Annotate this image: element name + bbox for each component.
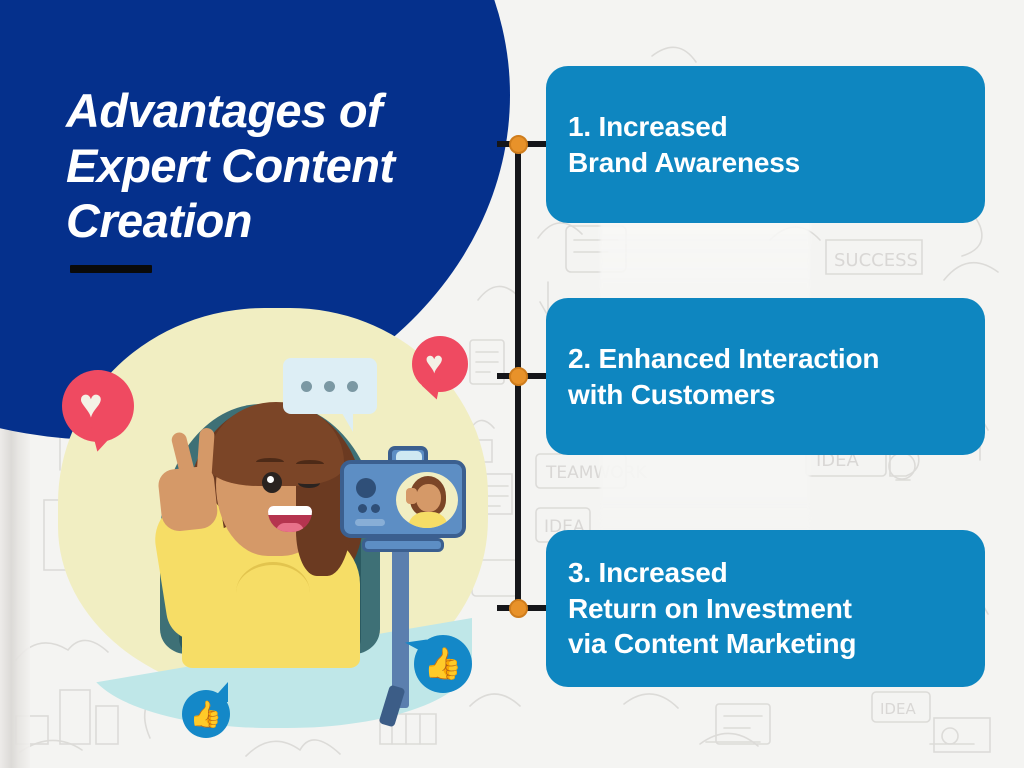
connector-node-1 [509, 135, 528, 154]
connector-node-3 [509, 599, 528, 618]
advantage-card-3-line-1: 3. Increased [568, 555, 985, 591]
connector-node-2 [509, 367, 528, 386]
advantage-card-3-line-3: via Content Marketing [568, 626, 985, 662]
infographic-canvas: TEAMWORK IDEA IDEA IDEA SUCCESS [0, 0, 1024, 768]
advantage-card-3[interactable]: 3. Increased Return on Investment via Co… [546, 530, 985, 687]
advantage-card-1-line-1: 1. Increased [568, 109, 985, 145]
advantage-card-3-line-2: Return on Investment [568, 591, 985, 627]
advantage-card-2-line-2: with Customers [568, 377, 985, 413]
advantage-card-2[interactable]: 2. Enhanced Interaction with Customers [546, 298, 985, 455]
advantage-card-2-line-1: 2. Enhanced Interaction [568, 341, 985, 377]
advantage-card-1-line-2: Brand Awareness [568, 145, 985, 181]
advantage-card-1[interactable]: 1. Increased Brand Awareness [546, 66, 985, 223]
